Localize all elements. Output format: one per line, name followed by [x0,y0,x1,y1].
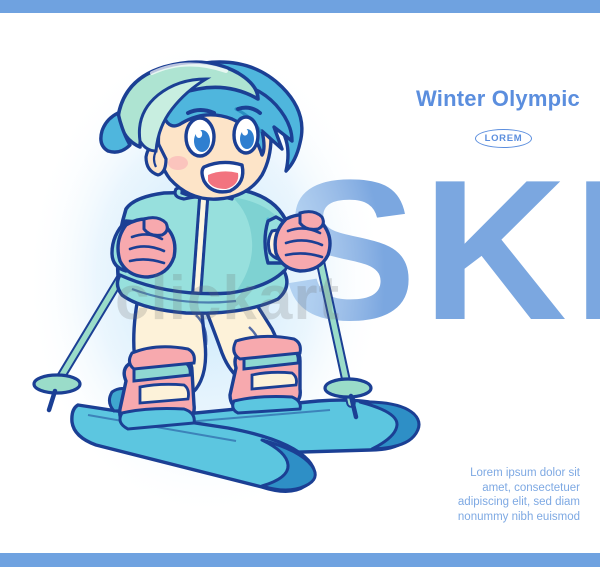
poster-canvas: SKI [0,0,600,567]
mouth [202,162,243,191]
lorem-badge: LOREM [475,129,532,148]
page-title: Winter Olympic [330,88,580,110]
paragraph-line-3: adipiscing elit, sed diam [330,495,580,510]
left-glove [118,218,175,277]
body-paragraph: Lorem ipsum dolor sit amet, consectetuer… [330,466,580,524]
bottom-frame-bar [0,553,600,567]
right-glove [275,212,330,271]
cheek-blush [168,156,188,170]
top-frame-bar [0,0,600,13]
paragraph-line-1: Lorem ipsum dolor sit [330,466,580,481]
paragraph-line-2: amet, consectetuer [330,481,580,496]
paragraph-line-4: nonummy nibh euismod [330,510,580,525]
